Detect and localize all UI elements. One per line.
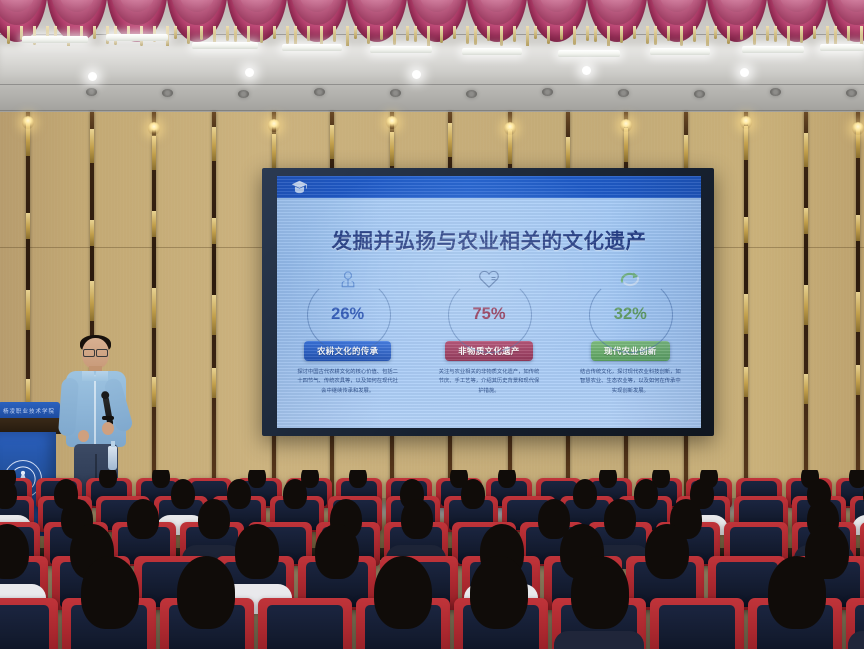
seam-gold-accent bbox=[508, 130, 512, 164]
ceiling-light-strip bbox=[370, 46, 432, 53]
ceiling-downlight bbox=[846, 89, 857, 97]
valance-tassel bbox=[560, 26, 563, 40]
valance-tassel bbox=[260, 26, 263, 43]
audience-member-head bbox=[599, 470, 617, 488]
wall-sconce-light bbox=[740, 116, 752, 129]
seam-gold-accent bbox=[26, 213, 30, 239]
audience-member-head bbox=[152, 470, 170, 488]
audience-member-shoulders bbox=[554, 631, 644, 649]
valance-tassel bbox=[607, 26, 610, 46]
presenter-left-hand bbox=[78, 430, 89, 442]
card-body-text: 关注与农业相关的非物质文化遗产，如传统节庆、手工艺等，介绍其历史背景和现代保护措… bbox=[437, 368, 541, 396]
presenter-glasses bbox=[83, 349, 108, 355]
slide-card: 75%非物质文化遗产关注与农业相关的非物质文化遗产，如传统节庆、手工艺等，介绍其… bbox=[418, 268, 559, 418]
card-body-text: 结合传统文化，探讨现代农业科技创新，如智慧农业、生态农业等，以及如何在传承中实现… bbox=[578, 368, 682, 396]
seam-gold-accent bbox=[566, 137, 570, 171]
seam-gold-accent bbox=[212, 127, 216, 161]
valance-tassel bbox=[547, 26, 550, 44]
seam-gold-accent bbox=[152, 211, 156, 237]
valance-tassel bbox=[226, 26, 229, 41]
wall-sconce-light bbox=[504, 122, 516, 135]
valance-tassel bbox=[487, 26, 490, 41]
valance-tassel bbox=[414, 26, 417, 42]
valance-tassel bbox=[753, 26, 756, 45]
audience-member-head bbox=[470, 556, 528, 629]
ceiling-downlight bbox=[694, 90, 705, 98]
valance-tassel bbox=[534, 26, 537, 39]
seam-gold-accent bbox=[804, 208, 808, 234]
ceiling-downlight bbox=[466, 90, 477, 98]
seam-gold-accent bbox=[212, 368, 216, 398]
seam-gold-accent bbox=[804, 374, 808, 404]
valance-tassel bbox=[680, 26, 683, 46]
ceiling-gloss bbox=[0, 46, 864, 82]
valance-tassel bbox=[727, 26, 730, 44]
seam-gold-accent bbox=[272, 134, 276, 168]
valance-tassel bbox=[367, 26, 370, 44]
audience-member-head bbox=[571, 556, 629, 629]
auditorium-photo: 发掘并弘扬与农业相关的文化遗产 26%农耕文化的传承探讨中国古代农耕文化的核心价… bbox=[0, 0, 864, 649]
audience-member-head bbox=[235, 524, 279, 579]
valance-tassel bbox=[693, 26, 696, 42]
audience-member-head bbox=[171, 479, 195, 509]
valance-tassel bbox=[787, 26, 790, 46]
valance-tassel bbox=[440, 26, 443, 43]
ceiling-light-strip bbox=[282, 44, 342, 51]
valance-tassel bbox=[466, 26, 469, 44]
ceiling-downlight bbox=[390, 89, 401, 97]
valance-tassel bbox=[766, 26, 769, 41]
valance-tassel bbox=[427, 26, 430, 46]
ceiling-spotlight bbox=[88, 72, 97, 81]
seam-gold-accent bbox=[212, 295, 216, 335]
ceiling bbox=[0, 0, 864, 118]
seam-gold-accent bbox=[744, 367, 748, 397]
seam-gold-accent bbox=[90, 220, 94, 246]
seam-gold-accent bbox=[804, 133, 808, 167]
percent-value: 26% bbox=[331, 305, 364, 324]
projection-screen-frame: 发掘并弘扬与农业相关的文化遗产 26%农耕文化的传承探讨中国古代农耕文化的核心价… bbox=[262, 168, 714, 436]
valance-tassel bbox=[7, 26, 10, 44]
audience-seating bbox=[0, 470, 864, 649]
presenter-right-hand bbox=[102, 422, 114, 435]
ceiling-light-strip bbox=[820, 44, 864, 51]
seam-gold-accent bbox=[152, 288, 156, 328]
valance-tassel bbox=[500, 26, 503, 46]
valance-tassel bbox=[633, 26, 636, 39]
valance-tassel bbox=[667, 26, 670, 41]
valance-tassel bbox=[380, 26, 383, 40]
percent-value: 75% bbox=[472, 305, 505, 324]
ceiling-seam bbox=[0, 84, 864, 85]
valance-tassel bbox=[573, 26, 576, 45]
presenter-watch bbox=[102, 416, 114, 420]
audience-member-head bbox=[315, 524, 359, 579]
audience-member-head bbox=[177, 556, 235, 629]
wall-sconce-light bbox=[620, 119, 632, 132]
wall-sconce-light bbox=[852, 122, 864, 135]
audience-member-head bbox=[198, 499, 230, 539]
seam-gold-accent bbox=[744, 126, 748, 160]
audience-member-head bbox=[349, 470, 367, 488]
valance-tassel bbox=[620, 26, 623, 43]
audience-member-head bbox=[248, 470, 266, 488]
projection-screen: 发掘并弘扬与农业相关的文化遗产 26%农耕文化的传承探讨中国古代农耕文化的核心价… bbox=[277, 176, 701, 428]
slide-card-row: 26%农耕文化的传承探讨中国古代农耕文化的核心价值、包括二十四节气、传统农具等，… bbox=[277, 268, 701, 418]
seam-gold-accent bbox=[856, 215, 860, 241]
valance-tassel bbox=[774, 26, 777, 42]
valance-tassel bbox=[234, 26, 237, 42]
valance-tassel bbox=[474, 26, 477, 45]
percent-value: 32% bbox=[614, 305, 647, 324]
valance-tassel bbox=[513, 26, 516, 42]
valance-tassel bbox=[586, 26, 589, 41]
audience-member-head bbox=[461, 479, 485, 509]
seam-gold-accent bbox=[26, 290, 30, 330]
audience-member-head bbox=[634, 479, 658, 509]
seam-gold-accent bbox=[90, 129, 94, 163]
ceiling-light-strip bbox=[462, 48, 522, 55]
audience-member-head bbox=[81, 556, 139, 629]
slide-header-bar bbox=[277, 176, 701, 198]
valance-tassel bbox=[294, 26, 297, 45]
seam-gold-accent bbox=[448, 123, 452, 157]
valance-tassel bbox=[714, 26, 717, 39]
graduation-cap-icon bbox=[291, 180, 308, 194]
ceiling-downlight bbox=[314, 88, 325, 96]
slide-card: 32%现代农业创新结合传统文化，探讨现代农业科技创新，如智慧农业、生态农业等，以… bbox=[560, 268, 701, 418]
valance-tassel bbox=[453, 26, 456, 39]
ceiling-downlight bbox=[162, 89, 173, 97]
seam-gold-accent bbox=[152, 377, 156, 407]
ceiling-spotlight bbox=[582, 66, 591, 75]
seam-gold-accent bbox=[624, 128, 628, 162]
ceiling-downlight bbox=[542, 88, 553, 96]
wall-sconce-light bbox=[386, 116, 398, 129]
auditorium-seat bbox=[0, 598, 58, 649]
ceiling-light-strip bbox=[650, 48, 710, 55]
valance-tassel bbox=[646, 26, 649, 44]
seam-gold-accent bbox=[856, 365, 860, 395]
seam-gold-accent bbox=[330, 125, 334, 159]
ceiling-light-strip bbox=[742, 46, 804, 53]
ceiling-downlight bbox=[238, 90, 249, 98]
valance-tassel bbox=[526, 26, 529, 46]
valance-tassel bbox=[320, 26, 323, 46]
audience-member-head bbox=[573, 479, 597, 509]
valance-tassel bbox=[187, 26, 190, 44]
ceiling-spotlight bbox=[412, 70, 421, 79]
audience-member-head bbox=[283, 479, 307, 509]
audience-member-head bbox=[99, 470, 117, 488]
valance-tassel bbox=[654, 26, 657, 45]
valance-tassel bbox=[594, 26, 597, 42]
wall-sconce-light bbox=[22, 116, 34, 129]
percent-ring: 32% bbox=[589, 291, 671, 337]
valance-tassel bbox=[200, 26, 203, 40]
ceiling-light-strip bbox=[192, 42, 258, 49]
ceiling-spotlight bbox=[245, 68, 254, 77]
audience-member-head bbox=[645, 524, 689, 579]
ceiling-seam bbox=[0, 110, 864, 111]
slide-title: 发掘并弘扬与农业相关的文化遗产 bbox=[277, 224, 701, 254]
valance-tassel bbox=[93, 26, 96, 39]
auditorium-seat bbox=[650, 598, 744, 649]
valance-tassel bbox=[333, 26, 336, 42]
water-bottle bbox=[108, 446, 117, 470]
audience-member-head bbox=[127, 499, 159, 539]
wall-sconce-light bbox=[268, 119, 280, 132]
seam-gold-accent bbox=[684, 135, 688, 169]
seam-gold-accent bbox=[212, 218, 216, 244]
ceiling-downlight bbox=[770, 88, 781, 96]
audience-member-head bbox=[498, 470, 516, 488]
percent-ring: 26% bbox=[307, 291, 389, 337]
audience-member-head bbox=[374, 556, 432, 629]
ceiling-downlight bbox=[86, 88, 97, 96]
seam-gold-accent bbox=[390, 132, 394, 166]
audience-member-head bbox=[604, 499, 636, 539]
audience-member-head bbox=[768, 556, 826, 629]
slide-card: 26%农耕文化的传承探讨中国古代农耕文化的核心价值、包括二十四节气、传统农具等，… bbox=[277, 268, 418, 418]
valance-tassel bbox=[860, 26, 863, 46]
percent-ring: 75% bbox=[448, 291, 530, 337]
valance-tassel bbox=[826, 26, 829, 44]
audience-member-head bbox=[227, 479, 251, 509]
valance-tassel bbox=[307, 26, 310, 41]
ceiling-light-strip bbox=[22, 36, 88, 43]
valance-tassel bbox=[406, 26, 409, 41]
valance-tassel bbox=[834, 26, 837, 45]
audience-member-head bbox=[849, 470, 864, 488]
audience-member-head bbox=[401, 499, 433, 539]
ceiling-spotlight bbox=[740, 68, 749, 77]
valance-tassel bbox=[740, 26, 743, 40]
valance-tassel bbox=[393, 26, 396, 45]
valance-tassel bbox=[813, 26, 816, 39]
seam-gold-accent bbox=[90, 281, 94, 321]
seam-gold-accent bbox=[856, 292, 860, 332]
valance-tassel bbox=[286, 26, 289, 44]
valance-tassel bbox=[847, 26, 850, 41]
valance-tassel bbox=[706, 26, 709, 46]
card-body-text: 探讨中国古代农耕文化的核心价值、包括二十四节气、传统农具等，以及如何在现代社会中… bbox=[296, 368, 400, 396]
ceiling-light-strip bbox=[106, 34, 168, 41]
seam-gold-accent bbox=[744, 217, 748, 243]
ceiling-light-strip bbox=[558, 50, 620, 57]
seam-gold-accent bbox=[804, 285, 808, 325]
valance-tassel bbox=[354, 26, 357, 39]
seam-gold-accent bbox=[152, 136, 156, 170]
auditorium-seat bbox=[258, 598, 352, 649]
valance-tassel bbox=[174, 26, 177, 39]
valance-tassel bbox=[800, 26, 803, 43]
valance-tassel bbox=[273, 26, 276, 39]
ceiling-downlight bbox=[618, 89, 629, 97]
valance-tassel bbox=[346, 26, 349, 46]
seam-gold-accent bbox=[744, 294, 748, 334]
valance-swag bbox=[826, 0, 864, 42]
wall-sconce-light bbox=[148, 122, 160, 135]
